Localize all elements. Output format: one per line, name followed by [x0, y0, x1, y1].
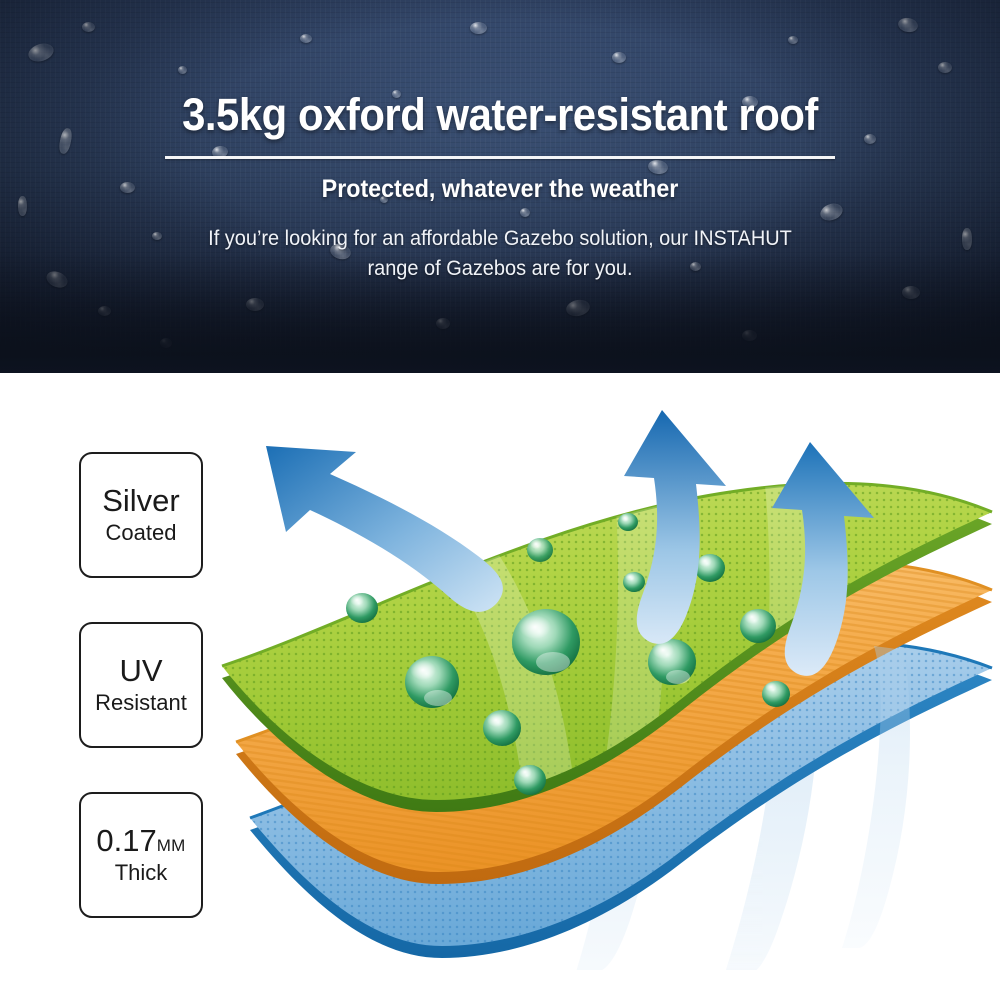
droplet — [514, 765, 546, 795]
badge-thickness: 0.17MM Thick — [79, 792, 203, 918]
page-description: If you’re looking for an affordable Gaze… — [196, 204, 804, 284]
badge-uv-resistant: UV Resistant — [79, 622, 203, 748]
badge-thickness-sub: Thick — [115, 860, 168, 885]
badge-thickness-main: 0.17MM — [96, 825, 185, 857]
droplet — [346, 593, 378, 623]
hero-banner: 3.5kg oxford water-resistant roof Protec… — [0, 0, 1000, 373]
droplet — [483, 710, 521, 746]
droplet — [512, 609, 580, 675]
droplet — [648, 639, 696, 685]
badge-uv-main: UV — [119, 655, 162, 687]
badge-thickness-unit: MM — [157, 836, 186, 855]
feature-badge-list: Silver Coated UV Resistant 0.17MM Thick — [79, 452, 163, 962]
droplet — [762, 681, 790, 707]
badge-uv-sub: Resistant — [95, 690, 187, 715]
arrow-left — [266, 446, 503, 612]
droplet — [527, 538, 553, 562]
droplet — [623, 572, 645, 592]
page-title: 3.5kg oxford water-resistant roof — [35, 0, 965, 137]
badge-thickness-value: 0.17 — [96, 823, 156, 858]
badge-silver-coated: Silver Coated — [79, 452, 203, 578]
droplet — [618, 513, 638, 531]
badge-silver-main: Silver — [102, 485, 180, 517]
droplet — [695, 554, 725, 582]
badge-silver-sub: Coated — [106, 520, 177, 545]
droplet — [740, 609, 776, 643]
product-feature-page: 3.5kg oxford water-resistant roof Protec… — [0, 0, 1000, 1000]
page-subtitle: Protected, whatever the weather — [35, 159, 965, 204]
fabric-layers-illustration — [210, 400, 1000, 970]
droplet — [405, 656, 459, 708]
